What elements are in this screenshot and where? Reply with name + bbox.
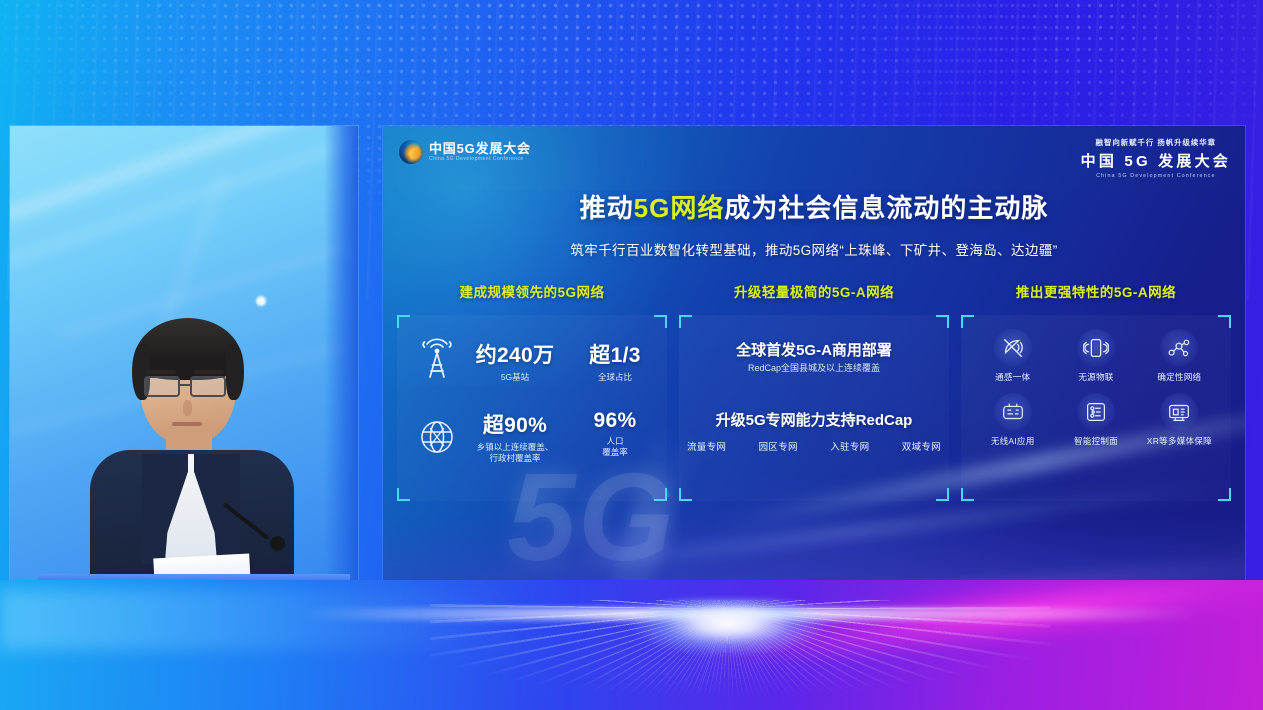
feature-label: 通感一体 <box>971 371 1054 383</box>
column-2-panel: 全球首发5G-A商用部署 RedCap全国县城及以上连续覆盖 升级5G专网能力支… <box>679 315 949 501</box>
slide-title-part1: 推动 <box>580 193 634 223</box>
column-1-stat-row-2: 超90% 乡镇以上连续覆盖、 行政村覆盖率 96% 人口 覆盖率 <box>411 409 657 465</box>
slide-title-part2: 成为社会信息流动的主动脉 <box>724 193 1048 223</box>
stat-label: 5G基站 <box>473 372 557 383</box>
globe-network-icon <box>411 411 463 463</box>
slide-logo-cn: 中国5G发展大会 <box>429 142 531 156</box>
stat-value: 超1/3 <box>573 339 657 369</box>
speaker-nose <box>183 400 192 416</box>
slide-brand-title: 中国 5G 发展大会 <box>1081 150 1231 171</box>
backdrop-streak <box>10 126 358 230</box>
slide-logo-en: China 5G Development Conference <box>429 157 531 162</box>
column-2-tags: 流量专网 园区专网 入驻专网 双域专网 <box>687 439 941 453</box>
stat-value: 约240万 <box>473 339 557 369</box>
slide-logo: 中国5G发展大会 China 5G Development Conference <box>399 140 531 164</box>
presentation-slide: 5G 中国5G发展大会 China 5G Development Confere… <box>383 126 1245 636</box>
panel-edge-shade <box>324 126 358 642</box>
corner-bracket-icon <box>654 488 667 501</box>
corner-bracket-icon <box>936 488 949 501</box>
stat-value: 96% <box>573 409 657 433</box>
corner-bracket-icon <box>936 315 949 328</box>
slide-title-highlight: 5G网络 <box>634 193 725 223</box>
feature-cell: 无源物联 <box>1054 329 1137 383</box>
slide-columns: 建成规模领先的5G网络 <box>397 281 1231 581</box>
column-2-line-3: 升级5G专网能力支持RedCap <box>679 409 949 430</box>
speaker-eyebrow-right <box>194 370 224 374</box>
stat-5g-base-stations: 约240万 5G基站 <box>473 339 557 383</box>
slide-column-3: 推出更强特性的5G-A网络 <box>961 281 1231 581</box>
slide-brand-slogan: 融智向新赋千行 扬帆升级续华章 <box>1081 137 1231 148</box>
slide-title: 推动5G网络成为社会信息流动的主动脉 <box>383 188 1245 225</box>
feature-label: 确定性网络 <box>1138 371 1221 383</box>
tag-traffic-private-network: 流量专网 <box>687 439 726 453</box>
corner-bracket-icon <box>679 315 692 328</box>
microphone-stem <box>223 502 270 540</box>
feature-cell: 通感一体 <box>971 329 1054 383</box>
glasses-lens-left <box>144 376 180 397</box>
deterministic-network-icon <box>1160 329 1198 367</box>
corner-bracket-icon <box>397 315 410 328</box>
speaker-hair-right <box>226 344 244 400</box>
feature-label: 智能控制面 <box>1054 435 1137 447</box>
feature-label: 无源物联 <box>1054 371 1137 383</box>
stat-global-share: 超1/3 全球占比 <box>573 339 657 383</box>
conference-swirl-icon <box>399 140 423 164</box>
corner-bracket-icon <box>961 315 974 328</box>
sensing-antenna-icon <box>994 329 1032 367</box>
corner-bracket-icon <box>1218 488 1231 501</box>
column-1-stat-row-1: 约240万 5G基站 超1/3 全球占比 <box>411 335 657 387</box>
feature-label: XR等多媒体保障 <box>1138 435 1221 447</box>
xr-multimedia-icon <box>1160 393 1198 431</box>
corner-bracket-icon <box>679 488 692 501</box>
column-1-panel: 约240万 5G基站 超1/3 全球占比 <box>397 315 667 501</box>
stat-township-coverage: 超90% 乡镇以上连续覆盖、 行政村覆盖率 <box>473 409 557 465</box>
tag-park-private-network: 园区专网 <box>759 439 798 453</box>
feature-cell: 确定性网络 <box>1138 329 1221 383</box>
stat-value: 超90% <box>473 409 557 439</box>
column-3-header: 推出更强特性的5G-A网络 <box>961 281 1231 301</box>
stage-light-burst <box>0 580 1263 710</box>
speaker-eyebrow-left <box>146 370 176 374</box>
speaker-mouth <box>172 422 202 426</box>
microphone-head <box>270 536 285 551</box>
tag-resident-private-network: 入驻专网 <box>830 439 869 453</box>
cell-tower-icon <box>411 335 463 387</box>
stat-label: 全球占比 <box>573 372 657 383</box>
feature-label: 无线AI应用 <box>971 435 1054 447</box>
speaker-figure <box>98 324 288 584</box>
feature-cell: XR等多媒体保障 <box>1138 393 1221 447</box>
feature-cell: 无线AI应用 <box>971 393 1054 447</box>
column-3-feature-grid: 通感一体 无源物联 <box>971 329 1221 447</box>
stat-population-coverage: 96% 人口 覆盖率 <box>573 409 657 465</box>
corner-bracket-icon <box>1218 315 1231 328</box>
column-2-header: 升级轻量极简的5G-A网络 <box>679 281 949 301</box>
wireless-ai-icon <box>994 393 1032 431</box>
corner-bracket-icon <box>961 488 974 501</box>
tag-dual-domain-private-network: 双域专网 <box>902 439 941 453</box>
corner-bracket-icon <box>654 315 667 328</box>
column-1-header: 建成规模领先的5G网络 <box>397 281 667 301</box>
column-3-panel: 通感一体 无源物联 <box>961 315 1231 501</box>
broadcast-stage: 中国5G发展大会 China 5G Development Conference… <box>0 0 1263 710</box>
corner-bracket-icon <box>397 488 410 501</box>
slide-brand-mark: 融智向新赋千行 扬帆升级续华章 中国 5G 发展大会 China 5G Deve… <box>1081 137 1231 179</box>
slide-subtitle: 筑牢千行百业数智化转型基础，推动5G网络“上珠峰、下矿井、登海岛、达边疆” <box>383 239 1245 259</box>
speaker-video-panel: 中国5G发展大会 China 5G Development Conference… <box>10 126 358 642</box>
backdrop-node-dot <box>256 296 266 306</box>
slide-brand-en: China 5G Development Conference <box>1081 173 1231 179</box>
burst-core-light <box>598 598 858 678</box>
slide-column-2: 升级轻量极简的5G-A网络 全球首发5G-A商用部署 RedCap全国县城及以上… <box>679 281 949 581</box>
stat-label: 人口 覆盖率 <box>573 436 657 459</box>
column-2-line-1: 全球首发5G-A商用部署 <box>679 339 949 360</box>
column-2-line-2: RedCap全国县城及以上连续覆盖 <box>679 361 949 374</box>
feature-cell: 智能控制面 <box>1054 393 1137 447</box>
glasses-lens-right <box>190 376 226 397</box>
passive-iot-tag-icon <box>1077 329 1115 367</box>
intelligent-control-plane-icon <box>1077 393 1115 431</box>
glasses-bridge <box>180 384 190 386</box>
slide-column-1: 建成规模领先的5G网络 <box>397 281 667 581</box>
stat-label: 乡镇以上连续覆盖、 行政村覆盖率 <box>473 442 557 465</box>
